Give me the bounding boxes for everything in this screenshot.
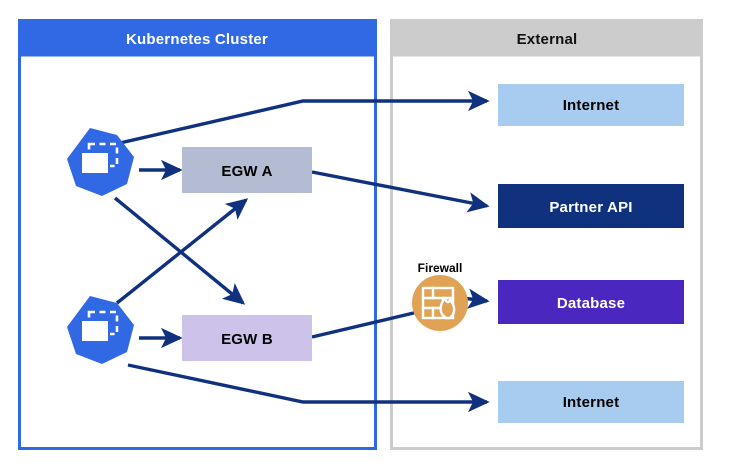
panel-kubernetes-cluster: Kubernetes Cluster xyxy=(20,21,376,449)
firewall-label: Firewall xyxy=(418,261,463,275)
firewall-node[interactable]: Firewall xyxy=(412,261,468,331)
node-label-egw-b: EGW B xyxy=(221,331,273,348)
panel-title-kubernetes: Kubernetes Cluster xyxy=(126,31,268,48)
node-partner-api[interactable]: Partner API xyxy=(498,184,684,228)
node-database[interactable]: Database xyxy=(498,280,684,324)
node-internet-bottom[interactable]: Internet xyxy=(498,381,684,423)
node-egw-b[interactable]: EGW B xyxy=(182,315,312,361)
node-label-internet-bottom: Internet xyxy=(563,394,620,411)
panel-title-external: External xyxy=(517,31,578,48)
node-label-egw-a: EGW A xyxy=(221,163,272,180)
node-egw-a[interactable]: EGW A xyxy=(182,147,312,193)
node-label-database: Database xyxy=(557,295,625,312)
node-internet-top[interactable]: Internet xyxy=(498,84,684,126)
node-label-partner-api: Partner API xyxy=(549,199,632,216)
diagram-canvas: Kubernetes Cluster External xyxy=(0,0,753,471)
firewall-circle xyxy=(412,275,468,331)
diagram-svg: Kubernetes Cluster External xyxy=(0,0,753,471)
node-label-internet-top: Internet xyxy=(563,97,620,114)
